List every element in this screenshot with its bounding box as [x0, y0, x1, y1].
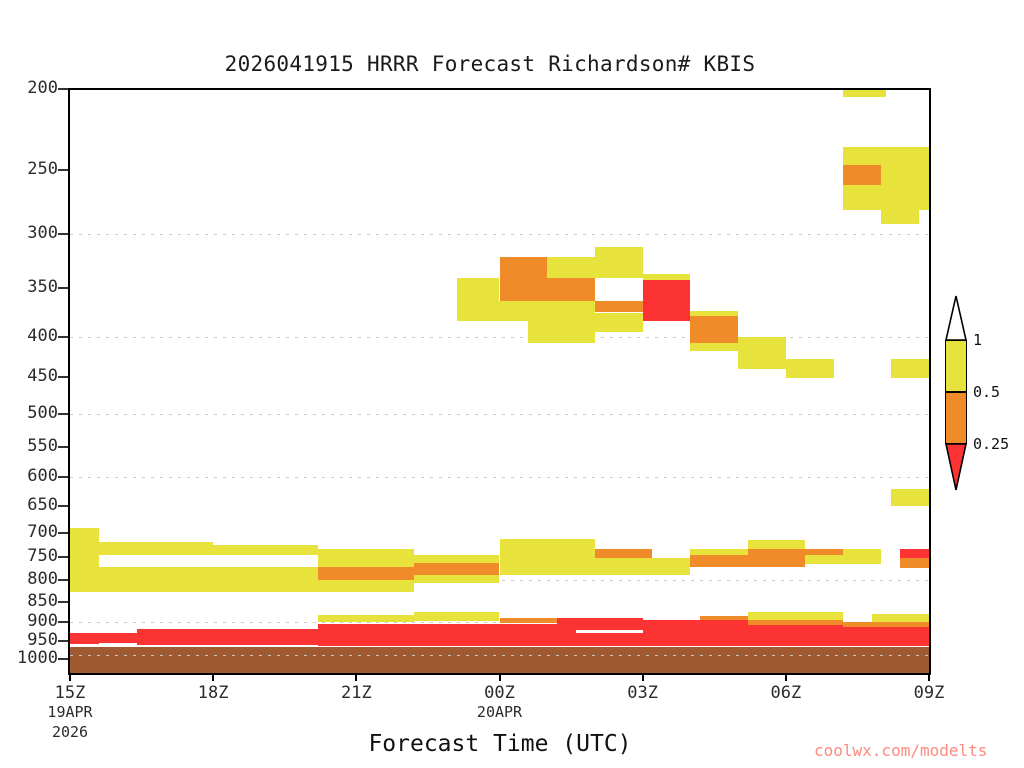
heatmap-cell — [318, 615, 413, 622]
heatmap-cell — [318, 555, 413, 568]
heatmap-cell — [843, 185, 881, 209]
heatmap-cell — [843, 147, 881, 165]
heatmap-cell — [595, 301, 643, 313]
x-axis-date-label: 19APR — [25, 705, 115, 720]
heatmap-cell — [457, 301, 595, 322]
heatmap-cell — [414, 612, 500, 621]
heatmap-cell — [891, 359, 929, 378]
heatmap-cell — [786, 359, 834, 378]
x-axis-tick-label: 18Z — [168, 685, 258, 702]
heatmap-cell — [414, 575, 500, 582]
x-axis-date-label: 20APR — [455, 705, 545, 720]
heatmap-cell — [643, 274, 691, 280]
legend-colorbar: 10.50.25 — [945, 295, 969, 475]
heatmap-cell — [881, 147, 929, 209]
y-axis-tick-mark — [58, 579, 68, 581]
heatmap-cell — [500, 555, 595, 576]
heatmap-cell — [500, 278, 595, 300]
legend-tick-label: 0.25 — [973, 437, 1009, 452]
heatmap-cell — [690, 343, 738, 351]
heatmap-cell — [595, 247, 643, 278]
terrain-band — [70, 647, 929, 673]
chart-canvas: 2026041915 HRRR Forecast Richardson# KBI… — [0, 0, 1024, 768]
watermark: coolwx.com/modelts — [814, 741, 987, 760]
x-axis-tick-label: 09Z — [884, 685, 974, 702]
heatmap-cell — [99, 567, 319, 580]
y-axis-tick-mark — [58, 446, 68, 448]
x-axis-tick-label: 03Z — [598, 685, 688, 702]
y-axis-tick-label: 750 — [0, 548, 58, 565]
x-axis-tick-mark — [785, 673, 787, 681]
heatmap-cell — [872, 614, 929, 622]
y-axis-tick-mark — [58, 336, 68, 338]
y-axis-tick-label: 600 — [0, 468, 58, 485]
x-axis-tick-mark — [212, 673, 214, 681]
y-axis-tick-label: 850 — [0, 593, 58, 610]
heatmap-cell — [70, 555, 99, 580]
y-axis-tick-label: 250 — [0, 161, 58, 178]
heatmap-cell — [414, 555, 500, 563]
y-axis-tick-label: 800 — [0, 571, 58, 588]
x-axis-tick-label: 21Z — [311, 685, 401, 702]
heatmap-cell — [748, 625, 843, 646]
x-axis-tick-mark — [69, 673, 71, 681]
y-axis-tick-label: 900 — [0, 613, 58, 630]
legend-bin-mid — [945, 392, 967, 444]
y-axis-tick-label: 950 — [0, 632, 58, 649]
heatmap-cell — [643, 620, 748, 646]
x-axis-tick-label: 00Z — [455, 685, 545, 702]
gridline — [70, 655, 929, 656]
heatmap-cell — [843, 165, 881, 185]
heatmap-cell — [690, 555, 747, 568]
heatmap-cell — [99, 542, 214, 555]
heatmap-cell — [213, 545, 318, 554]
y-axis-tick-label: 300 — [0, 225, 58, 242]
heatmap-cell — [576, 630, 643, 634]
heatmap-cell — [318, 567, 413, 580]
x-axis-tick-label: 06Z — [741, 685, 831, 702]
heatmap-cell — [843, 89, 886, 97]
y-axis-tick-label: 450 — [0, 368, 58, 385]
x-axis-tick-mark — [355, 673, 357, 681]
heatmap-cell — [891, 489, 929, 506]
x-axis-tick-mark — [642, 673, 644, 681]
heatmap-cell — [738, 337, 786, 369]
plot-cells-layer — [70, 90, 929, 673]
heatmap-cell — [805, 555, 881, 564]
y-axis-tick-mark — [58, 169, 68, 171]
heatmap-cell — [900, 549, 929, 558]
y-axis-tick-mark — [58, 621, 68, 623]
heatmap-cell — [500, 618, 557, 623]
legend-extend-above — [945, 295, 967, 341]
gridline — [70, 477, 929, 478]
heatmap-cell — [748, 540, 805, 549]
heatmap-cell — [595, 558, 690, 575]
y-axis-tick-mark — [58, 505, 68, 507]
x-axis-tick-label: 15Z — [25, 685, 115, 702]
y-axis-tick-label: 200 — [0, 80, 58, 97]
heatmap-cell — [843, 627, 929, 647]
gridline — [70, 337, 929, 338]
y-axis-tick-label: 500 — [0, 405, 58, 422]
legend-tick-label: 0.5 — [973, 385, 1000, 400]
heatmap-cell — [70, 528, 99, 555]
y-axis-tick-mark — [58, 640, 68, 642]
heatmap-cell — [547, 257, 595, 279]
y-axis-tick-label: 550 — [0, 438, 58, 455]
heatmap-cell — [690, 316, 738, 342]
gridline — [70, 414, 929, 415]
heatmap-cell — [595, 549, 652, 558]
y-axis-tick-mark — [58, 233, 68, 235]
y-axis-tick-mark — [58, 476, 68, 478]
heatmap-cell — [643, 280, 691, 321]
chart-title: 2026041915 HRRR Forecast Richardson# KBI… — [0, 52, 980, 76]
heatmap-cell — [595, 278, 643, 300]
y-axis-tick-mark — [58, 532, 68, 534]
heatmap-cell — [414, 624, 557, 647]
legend-bin-high — [945, 340, 967, 392]
y-axis-tick-mark — [58, 658, 68, 660]
y-axis-tick-mark — [58, 556, 68, 558]
heatmap-cell — [99, 555, 319, 568]
heatmap-cell — [414, 563, 500, 576]
heatmap-cell — [457, 278, 500, 300]
heatmap-cell — [500, 257, 548, 279]
heatmap-cell — [557, 624, 643, 646]
x-axis-tick-mark — [499, 673, 501, 681]
heatmap-cell — [748, 612, 843, 620]
y-axis-tick-mark — [58, 413, 68, 415]
gridline — [70, 234, 929, 235]
legend-tick-label: 1 — [973, 333, 982, 348]
legend-extend-below — [945, 443, 967, 491]
y-axis-tick-label: 1000 — [0, 650, 58, 667]
heatmap-cell — [900, 558, 929, 569]
x-axis-tick-mark — [928, 673, 930, 681]
y-axis-tick-label: 700 — [0, 524, 58, 541]
heatmap-cell — [500, 539, 595, 555]
heatmap-cell — [881, 210, 919, 224]
heatmap-cell — [528, 321, 595, 342]
heatmap-cell — [137, 629, 318, 645]
heatmap-cell — [595, 313, 643, 333]
y-axis-tick-mark — [58, 376, 68, 378]
y-axis-tick-mark — [58, 287, 68, 289]
y-axis-tick-mark — [58, 88, 68, 90]
heatmap-cell — [748, 558, 805, 567]
y-axis-tick-mark — [58, 601, 68, 603]
y-axis-tick-label: 650 — [0, 497, 58, 514]
y-axis-tick-label: 350 — [0, 279, 58, 296]
heatmap-cell — [318, 624, 413, 647]
plot-area — [68, 88, 931, 675]
heatmap-cell — [70, 580, 414, 592]
y-axis-tick-label: 400 — [0, 328, 58, 345]
